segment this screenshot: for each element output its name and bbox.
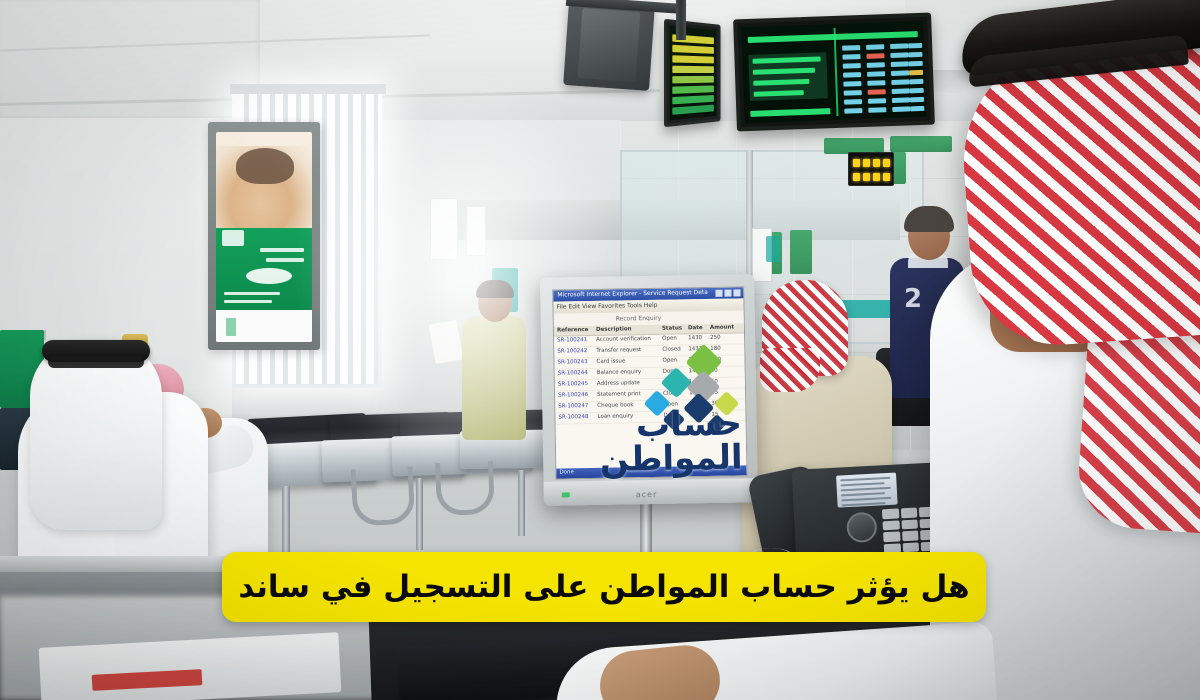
- queue-board-data-cell: [910, 106, 924, 111]
- side-screen-row: [672, 66, 714, 73]
- queue-board-data-cell: [867, 71, 885, 77]
- table-cell-date: 1432: [689, 368, 703, 374]
- table-row[interactable]: SR-100248Loan enquiryDone143415: [555, 409, 745, 424]
- queue-board-data-cell: [892, 97, 910, 103]
- queue-board-data-cell: [910, 97, 924, 102]
- table-cell-date: 1433: [689, 401, 703, 407]
- queue-board-data-cell: [909, 70, 923, 75]
- poster-footer-mark: [226, 318, 236, 336]
- poster-headline-line: [266, 258, 304, 262]
- green-advertisement-lightbox: [216, 132, 312, 342]
- telephone-key[interactable]: [902, 542, 919, 552]
- poster-body-line: [224, 300, 272, 303]
- queue-board-data-cell: [844, 108, 862, 114]
- screenshot-root: 2 Microsoft Internet Explorer - Service …: [0, 0, 1200, 700]
- table-cell-reference-link[interactable]: SR-100247: [558, 403, 588, 410]
- telephone-display-line: [841, 482, 885, 486]
- bench-leg: [518, 470, 525, 536]
- table-cell-reference-link[interactable]: SR-100245: [558, 381, 588, 388]
- telephone-display-line: [841, 487, 891, 492]
- telephone-display-line: [841, 497, 891, 502]
- table-cell-amount: 250: [710, 335, 721, 341]
- queue-information-board: [733, 13, 935, 132]
- poster-portrait-hair: [236, 148, 294, 184]
- bench-leg: [416, 478, 423, 550]
- queue-board-data-cell: [890, 43, 908, 49]
- table-cell-status: Open: [663, 380, 678, 386]
- ceiling-mount-shade: [578, 8, 641, 82]
- seated-customer-a-igal-lower: [48, 356, 144, 368]
- queue-board-data-cell: [866, 53, 884, 59]
- queue-board-data-cell: [842, 45, 860, 51]
- telephone-display: [836, 473, 898, 508]
- telephone-key[interactable]: [902, 530, 919, 540]
- table-cell-date: 1430: [688, 335, 702, 341]
- browser-menu-items: File Edit View Favorites Tools Help: [556, 302, 657, 311]
- telephone-display-line: [842, 502, 886, 506]
- queue-board-data-cell: [844, 99, 862, 105]
- table-cell-status: Closed: [662, 346, 681, 352]
- side-screen-row: [672, 45, 714, 54]
- queue-board-surface: [741, 21, 926, 123]
- table-cell-description: Loan enquiry: [597, 413, 633, 420]
- browser-page-title: Record Enquiry: [616, 315, 662, 323]
- side-screen-row: [672, 55, 714, 63]
- table-cell-status: Done: [663, 369, 678, 375]
- ceiling-mount-pole: [676, 0, 686, 40]
- table-cell-status: Done: [663, 412, 678, 418]
- caption-banner: هل يؤثر حساب المواطن على التسجيل في ساند: [222, 552, 986, 622]
- seated-customer-a-ghutrah: [30, 340, 162, 530]
- table-cell-reference-link[interactable]: SR-100246: [558, 392, 588, 399]
- side-screen-row: [672, 95, 714, 104]
- browser-title-text: Microsoft Internet Explorer - Service Re…: [557, 289, 707, 299]
- queue-board-data-cell: [908, 43, 922, 48]
- table-cell-description: Statement print: [597, 391, 641, 398]
- table-cell-status: Open: [663, 401, 678, 407]
- counter-customer-shemagh-fold: [760, 348, 820, 392]
- table-cell-reference-link[interactable]: SR-100248: [558, 414, 588, 421]
- table-cell-amount: 120: [710, 357, 721, 363]
- table-cell-description: Account verification: [596, 336, 651, 343]
- table-column-header: Description: [596, 326, 632, 333]
- telephone-display-line: [841, 492, 885, 496]
- counter-number-led-display: [848, 152, 894, 186]
- queue-board-data-cell: [868, 107, 886, 113]
- table-cell-amount: 60: [711, 379, 718, 385]
- telephone-key[interactable]: [882, 508, 899, 518]
- telephone-nav-pad[interactable]: [846, 512, 878, 544]
- browser-status-text: Done: [559, 469, 574, 475]
- queue-board-data-cell: [891, 70, 909, 76]
- table-cell-status: Open: [662, 336, 677, 342]
- poster-headline-line: [260, 248, 304, 252]
- table-cell-date: 1431: [688, 346, 702, 352]
- queue-board-data-cell: [908, 52, 922, 57]
- poster-body-line: [224, 292, 280, 295]
- led-digit: [873, 173, 880, 181]
- counter-green-header: [890, 136, 952, 152]
- telephone-key[interactable]: [883, 531, 900, 541]
- queue-board-data-cell: [892, 88, 910, 94]
- table-cell-description: Cheque book: [597, 402, 633, 409]
- queue-board-data-cell: [890, 52, 908, 58]
- queue-board-footer-row: [750, 108, 830, 117]
- queue-board-data-cell: [891, 61, 909, 67]
- table-cell-status: Closed: [663, 390, 682, 396]
- telephone-key[interactable]: [901, 519, 918, 529]
- staff-badge-number: 2: [904, 284, 922, 314]
- table-column-header: Date: [688, 325, 703, 331]
- table-cell-date: 1432: [689, 379, 703, 385]
- table-column-header: Status: [662, 325, 682, 331]
- queue-board-data-cell: [909, 79, 923, 84]
- table-cell-amount: 15: [711, 412, 718, 418]
- monitor-brand-label: acer: [636, 490, 658, 499]
- queue-board-data-cell: [867, 62, 885, 68]
- queue-board-data-cell: [892, 106, 910, 112]
- table-column-header: Amount: [710, 325, 734, 331]
- table-cell-description: Balance enquiry: [597, 369, 642, 376]
- table-cell-date: 1431: [688, 357, 702, 363]
- led-digit: [863, 173, 870, 181]
- table-cell-description: Transfer request: [596, 347, 641, 354]
- led-digit: [863, 159, 870, 167]
- queue-board-data-cell: [868, 98, 886, 104]
- queue-board-data-cell: [843, 63, 861, 69]
- browser-results-table: ReferenceDescriptionStatusDateAmount SR-…: [554, 323, 746, 468]
- poster-logo-mark: [222, 230, 244, 246]
- led-digit: [853, 173, 860, 181]
- queue-board-data-cell: [910, 88, 924, 93]
- window-control-buttons[interactable]: [715, 289, 741, 296]
- bench-leg: [282, 486, 290, 562]
- table-cell-date: 1433: [689, 390, 703, 396]
- table-cell-reference-link[interactable]: SR-100243: [557, 359, 587, 366]
- queue-board-data-cell: [844, 90, 862, 96]
- table-cell-amount: 180: [710, 346, 721, 352]
- telephone-display-line: [840, 477, 890, 482]
- teller-monitor-screen: Microsoft Internet Explorer - Service Re…: [552, 286, 747, 479]
- side-screen-row: [672, 76, 714, 84]
- led-digit: [883, 159, 890, 167]
- telephone-key[interactable]: [901, 507, 918, 517]
- queue-board-data-cell: [866, 44, 884, 50]
- queue-board-data-cell: [868, 89, 886, 95]
- wall-fixture: [0, 160, 30, 186]
- table-cell-description: Address update: [597, 380, 640, 387]
- table-cell-amount: 30: [711, 401, 718, 407]
- poster-hands-graphic: [246, 268, 292, 284]
- counter-green-header: [790, 230, 812, 274]
- queue-board-data-cell: [843, 72, 861, 78]
- caption-text: هل يؤثر حساب المواطن على التسجيل في ساند: [222, 572, 985, 603]
- table-cell-status: Open: [662, 358, 677, 364]
- bench-armrest: [351, 466, 416, 526]
- table-cell-date: 1434: [689, 412, 703, 418]
- side-screen-row: [672, 85, 714, 93]
- led-digit: [873, 159, 880, 167]
- browser-status-bar: Done: [556, 465, 746, 478]
- led-digit: [853, 159, 860, 167]
- teller-monitor: Microsoft Internet Explorer - Service Re…: [540, 274, 758, 506]
- table-cell-description: Card issue: [596, 358, 625, 365]
- side-queue-screen: [664, 19, 721, 127]
- queue-board-data-cell: [909, 61, 923, 66]
- led-digit: [883, 173, 890, 181]
- blind-headrail: [230, 84, 386, 94]
- table-cell-reference-link[interactable]: SR-100242: [557, 348, 587, 355]
- telephone-key[interactable]: [882, 520, 899, 530]
- desk-telephone[interactable]: [792, 462, 947, 562]
- table-column-header: Reference: [557, 327, 589, 334]
- table-cell-amount: 45: [711, 390, 718, 396]
- queue-board-data-cell: [843, 81, 861, 87]
- table-cell-reference-link[interactable]: SR-100244: [558, 370, 588, 377]
- monitor-power-led: [562, 492, 570, 497]
- teal-signage: [766, 236, 780, 262]
- queue-board-divider: [833, 28, 838, 116]
- queue-board-data-cell: [891, 79, 909, 85]
- table-cell-reference-link[interactable]: SR-100241: [557, 337, 587, 344]
- queue-board-data-cell: [867, 80, 885, 86]
- side-screen-row: [672, 105, 714, 115]
- table-cell-amount: 90: [711, 368, 718, 374]
- queue-board-data-cell: [842, 54, 860, 60]
